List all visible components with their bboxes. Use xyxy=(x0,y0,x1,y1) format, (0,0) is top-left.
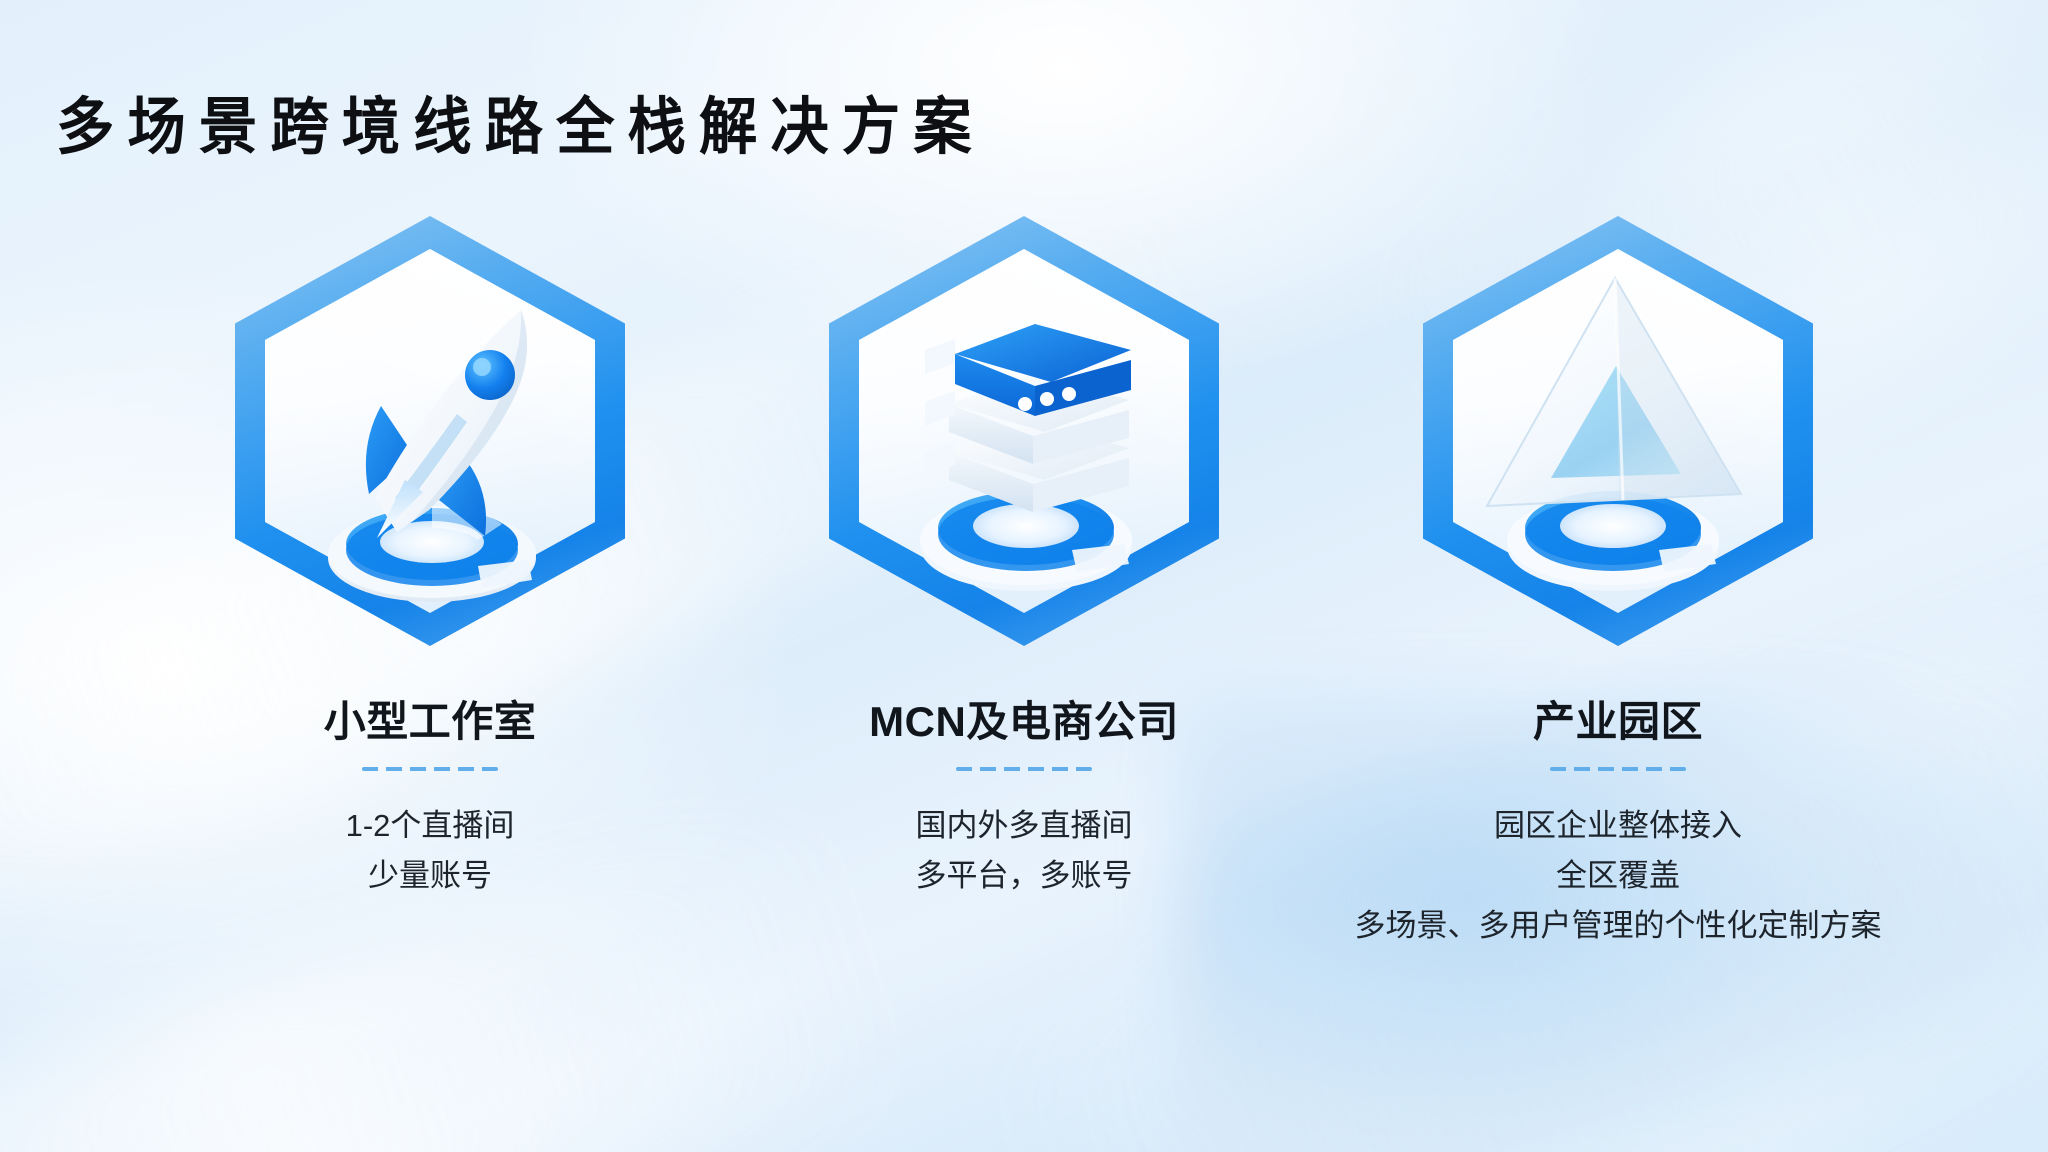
card-small-studio[interactable]: 小型工作室 1-2个直播间 少量账号 xyxy=(150,216,710,952)
card-description-line: 园区企业整体接入 xyxy=(1355,801,1882,851)
pyramid-icon xyxy=(1423,216,1813,646)
slide-canvas: 多场景跨境线路全栈解决方案 xyxy=(0,0,2048,1152)
hexagon-badge-3 xyxy=(1423,216,1813,646)
card-description-line: 1-2个直播间 xyxy=(346,801,515,851)
server-stack-icon xyxy=(829,216,1219,646)
card-description-line: 多平台，多账号 xyxy=(916,851,1133,901)
card-divider xyxy=(956,767,1092,771)
card-description-line: 全区覆盖 xyxy=(1355,851,1882,901)
page-title: 多场景跨境线路全栈解决方案 xyxy=(56,96,985,159)
card-description: 1-2个直播间 少量账号 xyxy=(346,801,515,901)
card-description-line: 国内外多直播间 xyxy=(916,801,1133,851)
card-title: MCN及电商公司 xyxy=(869,688,1179,749)
hexagon-badge-2 xyxy=(829,216,1219,646)
card-description: 园区企业整体接入 全区覆盖 多场景、多用户管理的个性化定制方案 xyxy=(1355,801,1882,952)
card-divider xyxy=(362,767,498,771)
card-title: 产业园区 xyxy=(1533,688,1703,749)
card-mcn-ecommerce[interactable]: MCN及电商公司 国内外多直播间 多平台，多账号 xyxy=(744,216,1304,952)
card-industrial-park[interactable]: 产业园区 园区企业整体接入 全区覆盖 多场景、多用户管理的个性化定制方案 xyxy=(1338,216,1898,952)
hexagon-badge-1 xyxy=(235,216,625,646)
card-divider xyxy=(1550,767,1686,771)
card-title: 小型工作室 xyxy=(324,688,537,749)
rocket-icon xyxy=(235,216,625,646)
card-description: 国内外多直播间 多平台，多账号 xyxy=(916,801,1133,901)
card-description-line: 多场景、多用户管理的个性化定制方案 xyxy=(1355,901,1882,951)
card-description-line: 少量账号 xyxy=(346,851,515,901)
solution-cards-row: 小型工作室 1-2个直播间 少量账号 xyxy=(0,216,2048,952)
